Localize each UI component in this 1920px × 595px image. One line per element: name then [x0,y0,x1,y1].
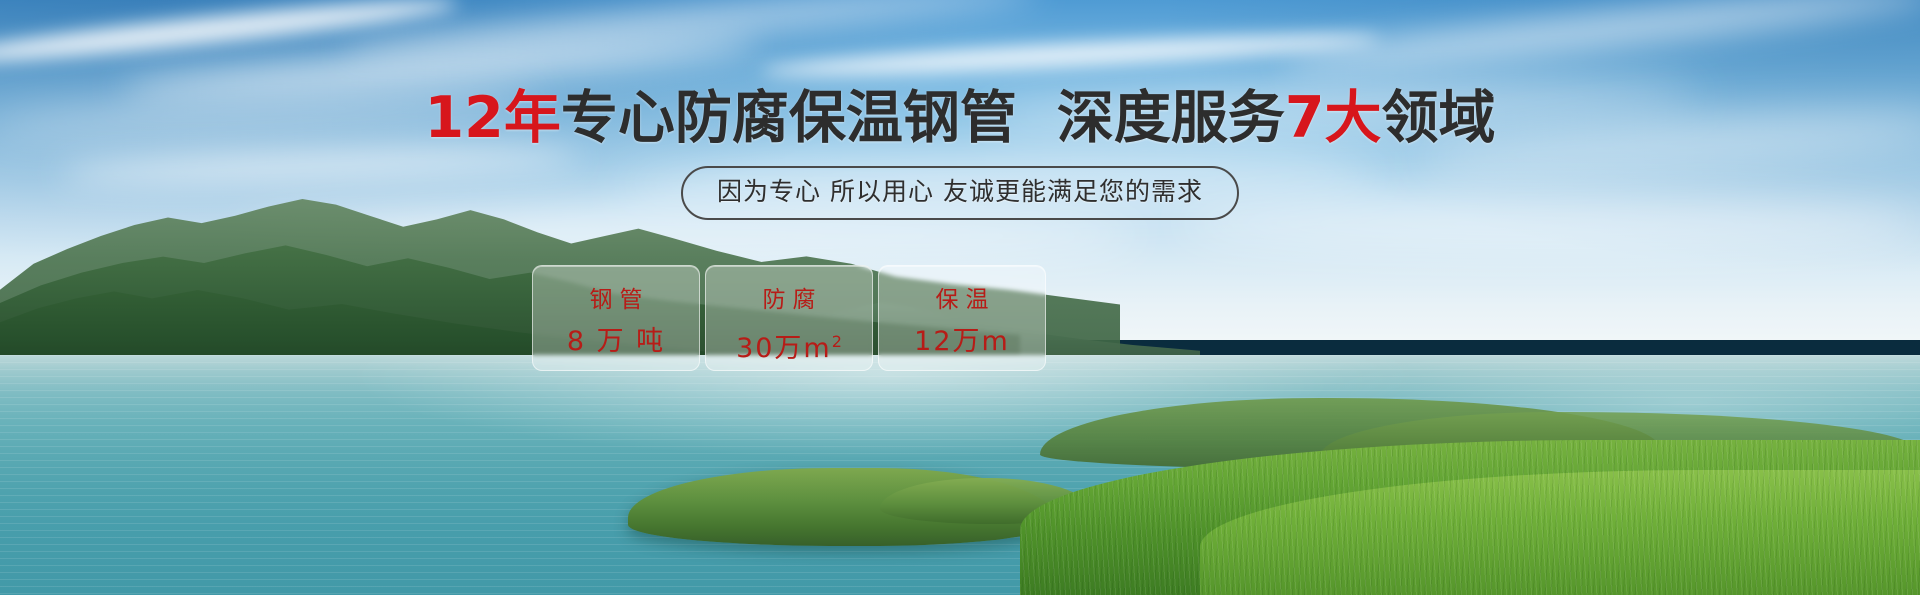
headline-main-text: 专心防腐保温钢管 [561,85,1017,151]
banner-headline: 12年专心防腐保温钢管深度服务7大领域 [0,86,1920,150]
stat-card-value-text: 30万m [736,333,832,364]
stat-card-title: 防腐 [706,285,872,315]
headline-service: 深度服务 [1057,85,1285,151]
stat-card-value-text: 12万m [914,326,1010,357]
stat-card-value: 8 万 吨 [533,326,699,358]
stat-card-insulation[interactable]: 保温 12万m [878,265,1046,371]
stat-card-value-sup: 2 [832,332,842,351]
stat-card-value: 12万m [879,326,1045,358]
headline-fields-count: 7大 [1285,85,1382,151]
stat-card-title: 保温 [879,285,1045,315]
stat-card-title: 钢管 [533,285,699,315]
stat-card-group: 钢管 8 万 吨 防腐 30万m2 保温 12万m [532,265,1046,371]
stat-card-value: 30万m2 [706,326,872,365]
banner-subtitle-wrap: 因为专心 所以用心 友诚更能满足您的需求 [0,166,1920,220]
banner-subtitle-pill: 因为专心 所以用心 友诚更能满足您的需求 [681,166,1239,220]
stat-card-value-text: 8 万 吨 [567,326,665,357]
stat-card-steel-pipe[interactable]: 钢管 8 万 吨 [532,265,700,371]
stat-card-anticorrosion[interactable]: 防腐 30万m2 [705,265,873,371]
hero-banner: 12年专心防腐保温钢管深度服务7大领域 因为专心 所以用心 友诚更能满足您的需求… [0,0,1920,595]
headline-years: 12年 [425,85,561,151]
headline-fields: 领域 [1382,85,1496,151]
